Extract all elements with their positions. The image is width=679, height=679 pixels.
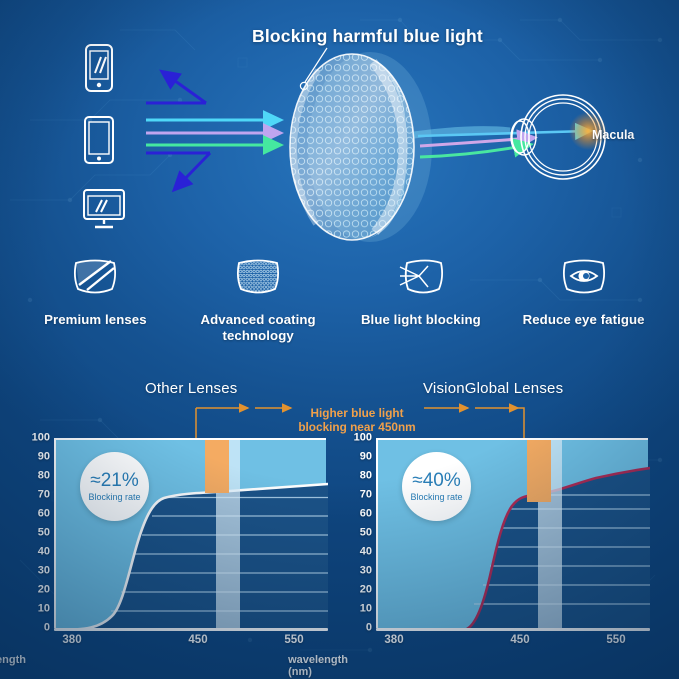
x-tick: 550: [284, 634, 303, 646]
macula-label: Macula: [592, 128, 634, 142]
y-tick: 90: [360, 452, 372, 463]
feature-item-advanced-coating: Advanced coating technology: [178, 250, 338, 343]
y-tick: 30: [360, 566, 372, 577]
violet-ray-to-eye: [420, 138, 532, 146]
blue-light-blocking-lens-icon: [395, 254, 447, 300]
feature-item-reduce-eye-fatigue: Reduce eye fatigue: [504, 250, 664, 328]
feature-label: Blue light blocking: [341, 312, 501, 328]
y-tick: 50: [38, 528, 50, 539]
premium-lens-icon: [69, 254, 121, 300]
y-tick: 0: [44, 623, 50, 634]
y-tick: 100: [32, 433, 50, 444]
y-tick: 40: [360, 547, 372, 558]
x-tick: 450: [510, 634, 529, 646]
y-tick: 40: [38, 547, 50, 558]
x-tick: 380: [384, 634, 403, 646]
band-orange-visionglobal-lenses: [527, 440, 551, 502]
hero-illustration: Blocking harmful blue light: [0, 0, 679, 248]
y-tick: 90: [38, 452, 50, 463]
blocking-rate-caption: Blocking rate: [410, 493, 462, 503]
eye-lens-icon: [558, 254, 610, 300]
y-tick: 80: [360, 471, 372, 482]
x-tick: 450: [188, 634, 207, 646]
feature-item-premium-lenses: Premium lenses: [15, 250, 175, 328]
feature-label: Premium lenses: [15, 312, 175, 328]
y-axis-visionglobal-lenses: 100 90 80 70 60 50 40 30 20 10 0: [344, 438, 372, 628]
annotation-text: Higher blue light blocking near 450nm: [295, 406, 419, 435]
infographic-root: Blocking harmful blue light: [0, 0, 679, 679]
blocking-rate-badge-visionglobal-lenses: ≈40% Blocking rate: [402, 452, 471, 521]
x-axis-label-visionglobal-lenses: wavelength (nm): [288, 654, 348, 678]
blocking-rate-value: ≈40%: [412, 471, 460, 490]
y-tick: 80: [38, 471, 50, 482]
coating-mesh-lens-icon: [232, 254, 284, 300]
x-axis-label-other-lenses: wavelength (nm): [0, 654, 26, 678]
y-tick: 20: [38, 585, 50, 596]
reflected-blue-ray-top: [146, 73, 206, 103]
y-tick: 0: [366, 623, 372, 634]
feature-item-blue-light-blocking: Blue light blocking: [341, 250, 501, 328]
feature-list: Premium lenses Advanced coating technolo…: [0, 250, 679, 362]
y-tick: 10: [360, 604, 372, 615]
y-axis-other-lenses: 100 90 80 70 60 50 40 30 20 10 0: [22, 438, 50, 628]
green-ray-to-eye: [420, 145, 528, 157]
x-tick: 380: [62, 634, 81, 646]
x-tick: 550: [606, 634, 625, 646]
plot-area-visionglobal-lenses: ≈40% Blocking rate: [376, 438, 648, 628]
feature-label: Reduce eye fatigue: [504, 312, 664, 328]
band-orange-other-lenses: [205, 440, 229, 493]
y-tick: 20: [360, 585, 372, 596]
feature-label: Advanced coating technology: [178, 312, 338, 343]
plot-area-other-lenses: ≈21% Blocking rate: [54, 438, 326, 628]
y-tick: 50: [360, 528, 372, 539]
reflected-blue-ray-bottom: [146, 153, 210, 188]
blocking-rate-caption: Blocking rate: [88, 493, 140, 503]
y-tick: 60: [38, 509, 50, 520]
x-axis-line-other-lenses: [54, 628, 328, 631]
y-tick: 10: [38, 604, 50, 615]
y-tick: 70: [360, 490, 372, 501]
y-tick: 70: [38, 490, 50, 501]
comparison-charts: Other Lenses VisionGlobal Lenses Higher …: [0, 366, 679, 679]
y-tick: 30: [38, 566, 50, 577]
y-tick: 100: [354, 433, 372, 444]
blocking-rate-badge-other-lenses: ≈21% Blocking rate: [80, 452, 149, 521]
blocking-rate-value: ≈21%: [90, 471, 138, 490]
light-ray-diagram: [0, 0, 679, 248]
lens-graphic: [290, 52, 432, 242]
x-axis-line-visionglobal-lenses: [376, 628, 650, 631]
y-tick: 60: [360, 509, 372, 520]
